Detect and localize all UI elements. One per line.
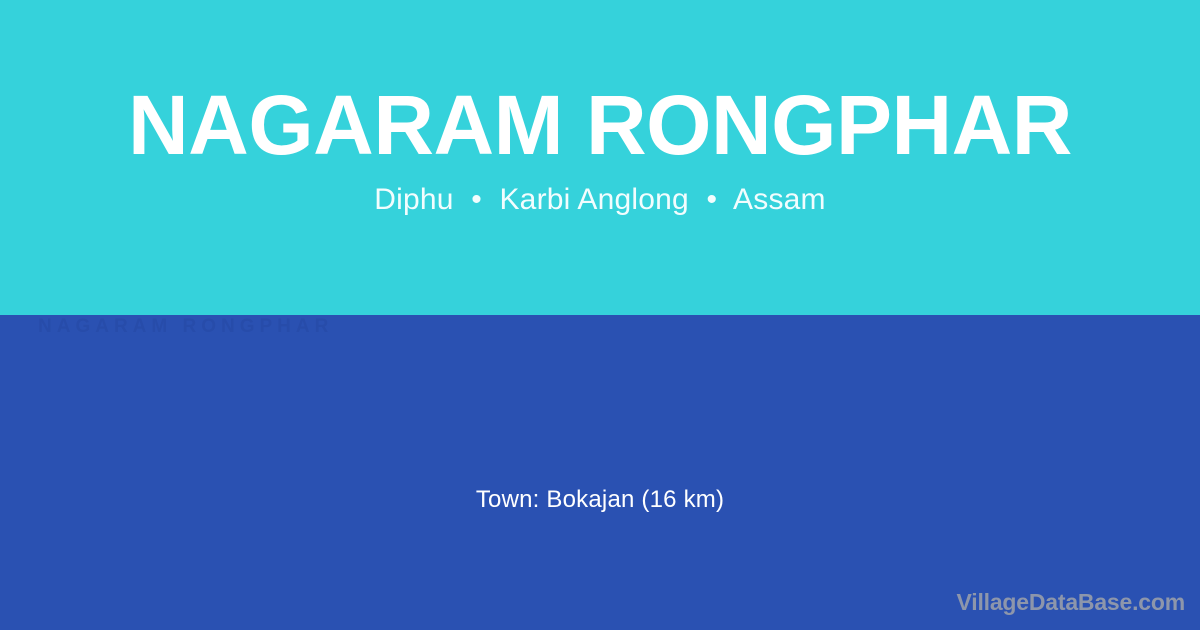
- village-info-card: NAGARAM RONGPHAR Diphu • Karbi Anglong •…: [0, 0, 1200, 630]
- breadcrumb-separator-icon: •: [462, 182, 491, 218]
- site-watermark: VillageDataBase.com: [957, 588, 1185, 616]
- detail-band: Town: Bokajan (16 km) VillageDataBase.co…: [0, 315, 1200, 630]
- breadcrumb-item-block: Diphu: [374, 183, 453, 216]
- nearest-town-label: Town:: [476, 486, 540, 513]
- nearest-town-name: Bokajan: [546, 486, 634, 513]
- page-title: NAGARAM RONGPHAR: [0, 77, 1200, 173]
- breadcrumb-item-district: Karbi Anglong: [499, 183, 688, 216]
- breadcrumb-item-state: Assam: [733, 183, 826, 216]
- breadcrumb-separator-icon: •: [697, 182, 726, 218]
- nearest-town-line: Town: Bokajan (16 km): [0, 485, 1200, 515]
- breadcrumb: Diphu • Karbi Anglong • Assam: [0, 182, 1200, 218]
- hero-band: NAGARAM RONGPHAR Diphu • Karbi Anglong •…: [0, 0, 1200, 315]
- seam-ghost-artifact: NAGARAM RONGPHAR: [0, 316, 620, 338]
- nearest-town-distance: (16 km): [641, 486, 724, 513]
